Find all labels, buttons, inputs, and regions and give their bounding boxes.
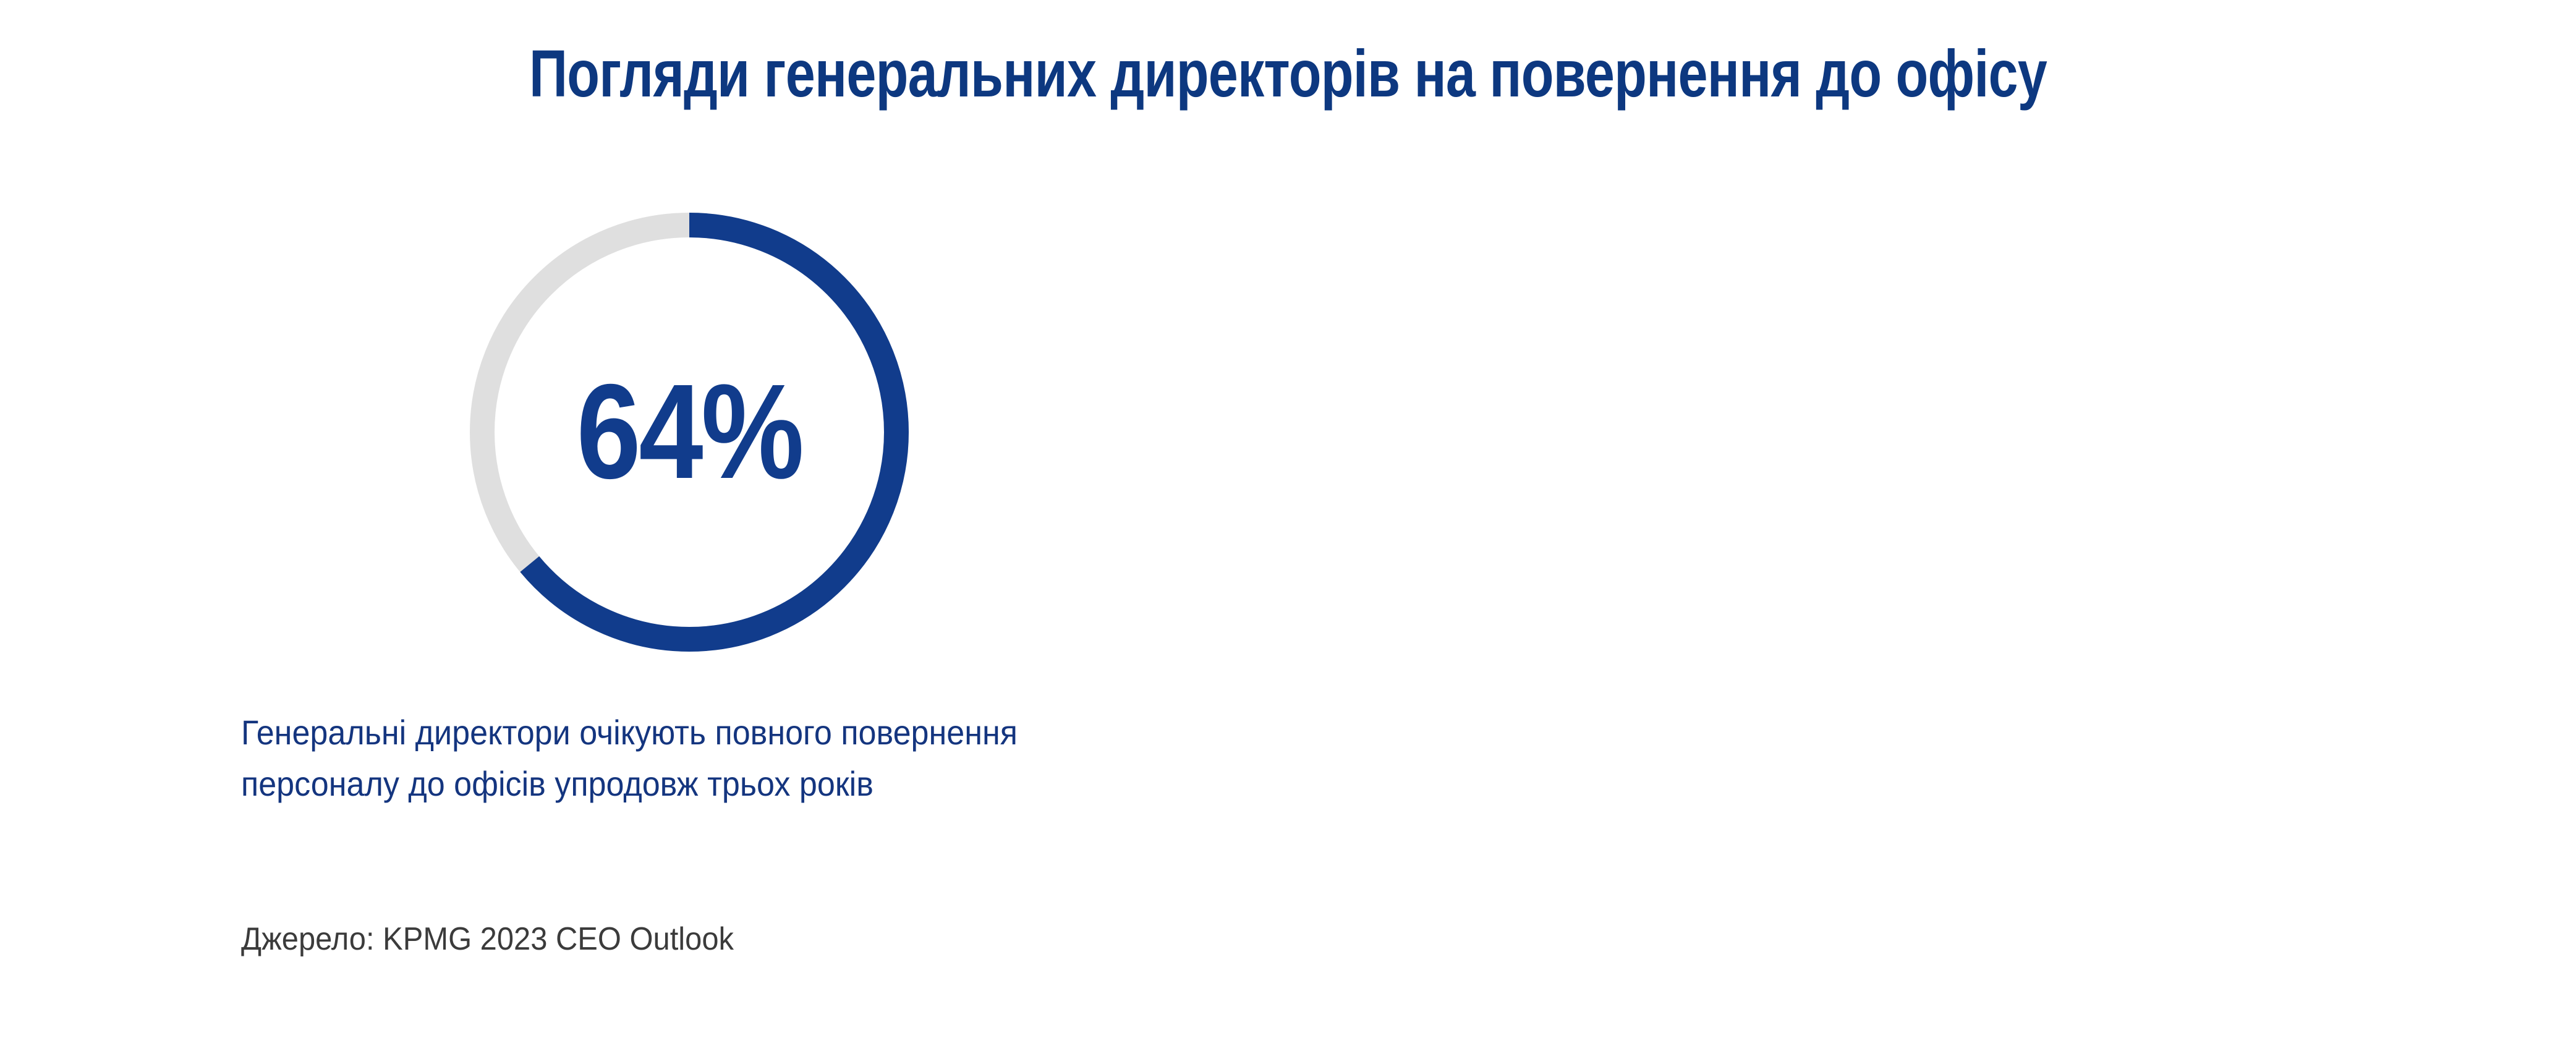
donut-value-label-64: 64% [501, 365, 878, 500]
caption-ceo-return-expectation: Генеральні директори очікують повного по… [241, 707, 1218, 810]
source-note: Джерело: KPMG 2023 CEO Outlook [241, 920, 734, 958]
caption-line: Генеральні директори очікують повного по… [241, 707, 1218, 759]
donut-chart-ceo-return-expectation: 64% [470, 213, 909, 652]
infographic-root: Погляди генеральних директорів на поверн… [0, 0, 2576, 1064]
caption-line: персоналу до офісів упродовж трьох років [241, 759, 1218, 810]
stat-panel-ceo-reward-return: 87% Ймовірно, що керівники будуть винаго… [1288, 0, 2576, 1064]
stat-panel-ceo-return-expectation: 64% Генеральні директори очікують повног… [0, 0, 1288, 1064]
